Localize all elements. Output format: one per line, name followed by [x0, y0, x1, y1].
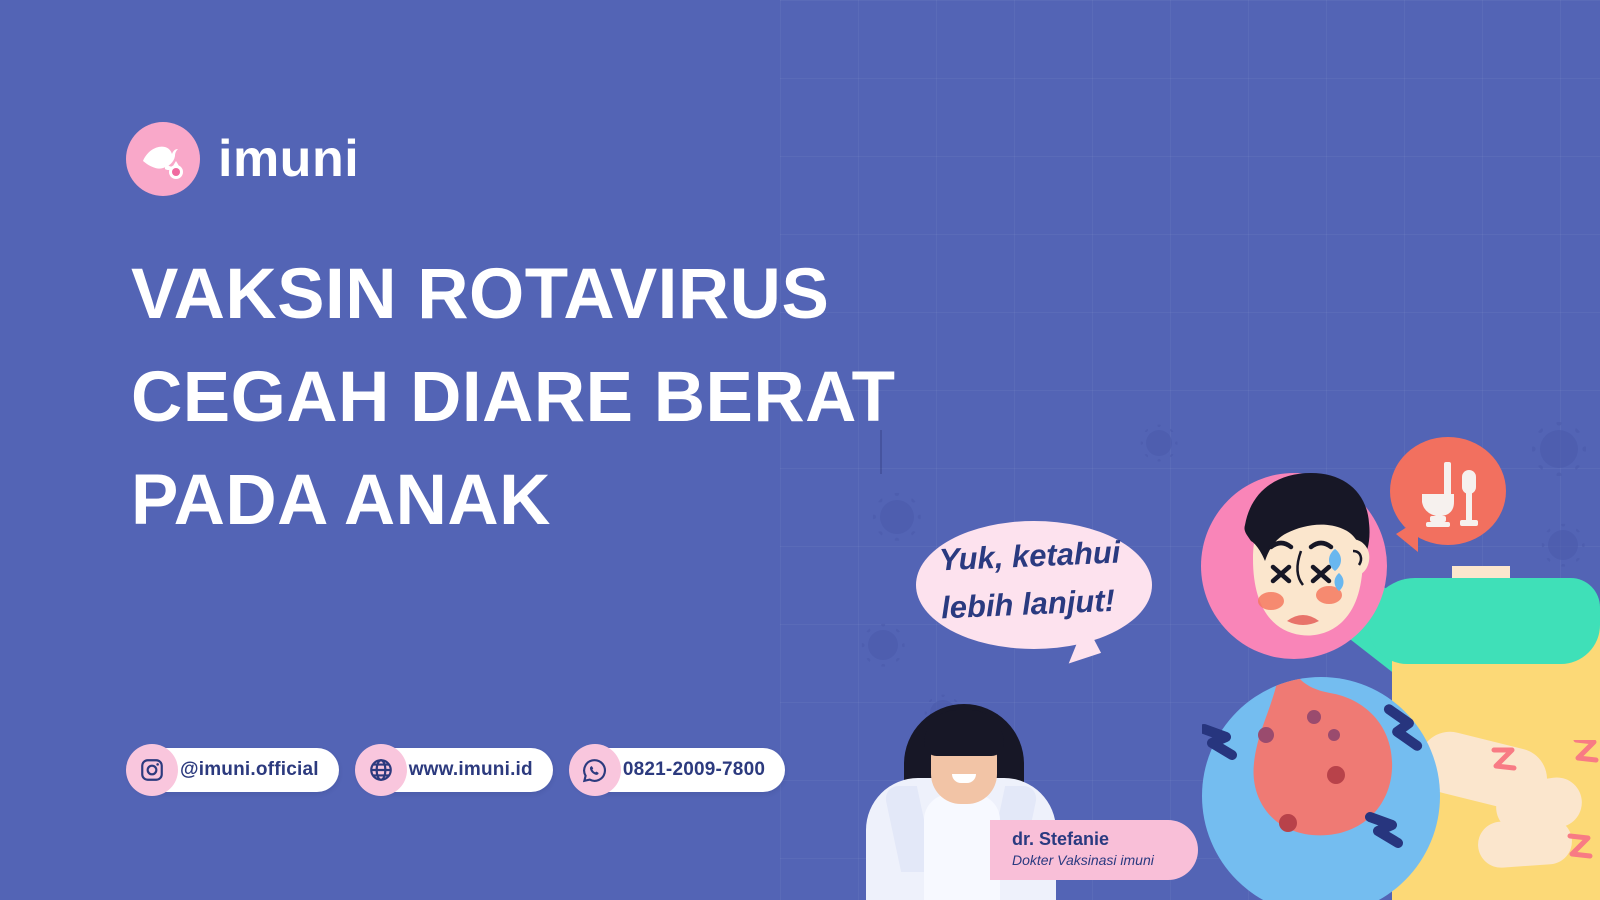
doctor-role: Dokter Vaksinasi imuni	[1012, 850, 1198, 870]
sick-child-face-icon	[1201, 455, 1401, 685]
instagram-icon	[126, 744, 178, 796]
brand-wordmark: imuni	[218, 133, 359, 185]
background-virus-icon	[868, 630, 898, 660]
child-hand-lower	[1477, 817, 1574, 869]
stork-with-droplet-icon	[126, 122, 200, 196]
contact-label-whatsapp: 0821-2009-7800	[623, 759, 765, 781]
headline-line-2: CEGAH DIARE BERAT	[131, 346, 931, 449]
contact-label-website: www.imuni.id	[409, 759, 533, 781]
headline-line-3: PADA ANAK	[131, 449, 931, 552]
whatsapp-icon	[569, 744, 621, 796]
doctor-hair-front	[924, 710, 1004, 756]
child-forearm	[1412, 725, 1553, 817]
toilet-bubble	[1390, 437, 1506, 545]
poster-canvas: imuni VAKSIN ROTAVIRUS CEGAH DIARE BERAT…	[0, 0, 1600, 900]
speech-bubble-text: Yuk, ketahui lebih lanjut!	[938, 528, 1142, 633]
contact-bar: @imuni.official www.imuni.id	[128, 748, 785, 792]
speech-line-1: Yuk, ketahui	[938, 528, 1140, 585]
child-head-backdrop	[1201, 473, 1387, 659]
speech-line-2: lebih lanjut!	[940, 576, 1142, 633]
child-hand-upper	[1493, 774, 1585, 835]
child-neck	[1452, 566, 1510, 626]
background-virus-icon	[1540, 430, 1578, 468]
child-left-arm	[1324, 570, 1457, 693]
contact-label-instagram: @imuni.official	[180, 759, 319, 781]
stomach-with-virus-icon	[1202, 677, 1440, 900]
lightning-bolt-icon	[1382, 690, 1442, 760]
doctor-inner-shirt	[924, 794, 1000, 900]
toilet-icon	[1418, 458, 1488, 530]
doctor-name-card: dr. Stefanie Dokter Vaksinasi imuni	[990, 820, 1198, 880]
contact-pill-whatsapp[interactable]: 0821-2009-7800	[571, 748, 785, 792]
page-title: VAKSIN ROTAVIRUS CEGAH DIARE BERAT PADA …	[131, 243, 931, 552]
brand-logo[interactable]: imuni	[126, 122, 359, 196]
toilet-bubble-tail	[1396, 520, 1418, 552]
belly-pain-marks-icon	[1480, 740, 1600, 890]
stomach-graphic	[1202, 677, 1440, 900]
contact-pill-instagram[interactable]: @imuni.official	[128, 748, 339, 792]
headline-line-1: VAKSIN ROTAVIRUS	[131, 243, 931, 346]
doctor-name: dr. Stefanie	[1012, 828, 1198, 850]
child-sleeves	[1368, 578, 1600, 664]
globe-icon	[355, 744, 407, 796]
background-virus-icon	[1146, 430, 1172, 456]
child-shirt	[1392, 588, 1600, 900]
background-virus-icon	[1548, 530, 1578, 560]
contact-pill-website[interactable]: www.imuni.id	[357, 748, 553, 792]
